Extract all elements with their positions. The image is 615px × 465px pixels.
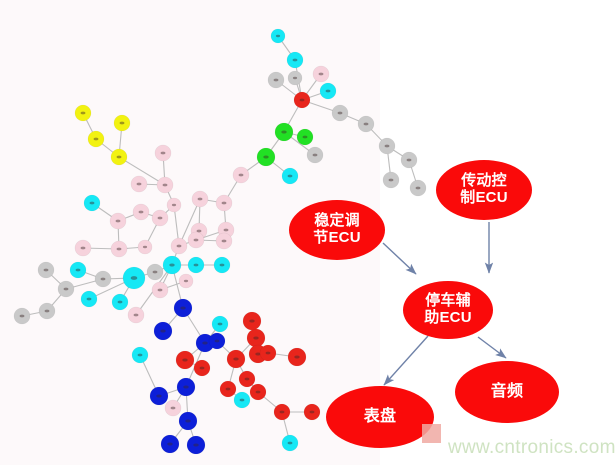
ecu-ellipse-audio[interactable]: 音频	[455, 361, 559, 423]
ecu-label-line: 表盘	[364, 408, 396, 426]
ecu-label-line: 助ECU	[424, 310, 471, 327]
ecu-ellipse-stability[interactable]: 稳定调节ECU	[289, 200, 385, 260]
screenshot-canvas: 稳定调节ECU传动控制ECU停车辅助ECU表盘音频 www.cntronics.…	[0, 0, 615, 465]
ecu-label-line: 停车辅	[425, 293, 471, 310]
ecu-label-line: 节ECU	[313, 230, 360, 247]
ecu-ellipse-powertrain[interactable]: 传动控制ECU	[436, 160, 532, 220]
ecu-label-line: 制ECU	[460, 190, 507, 207]
ecu-label-line: 音频	[491, 383, 523, 401]
ecu-ellipse-parking[interactable]: 停车辅助ECU	[403, 281, 493, 339]
ecu-ellipse-dashboard[interactable]: 表盘	[326, 386, 434, 448]
watermark-block	[422, 424, 441, 443]
ecu-label-line: 传动控	[461, 173, 507, 190]
site-watermark: www.cntronics.com	[448, 437, 615, 459]
ecu-diagram: 稳定调节ECU传动控制ECU停车辅助ECU表盘音频	[0, 0, 615, 465]
ecu-label-line: 稳定调	[314, 213, 360, 230]
